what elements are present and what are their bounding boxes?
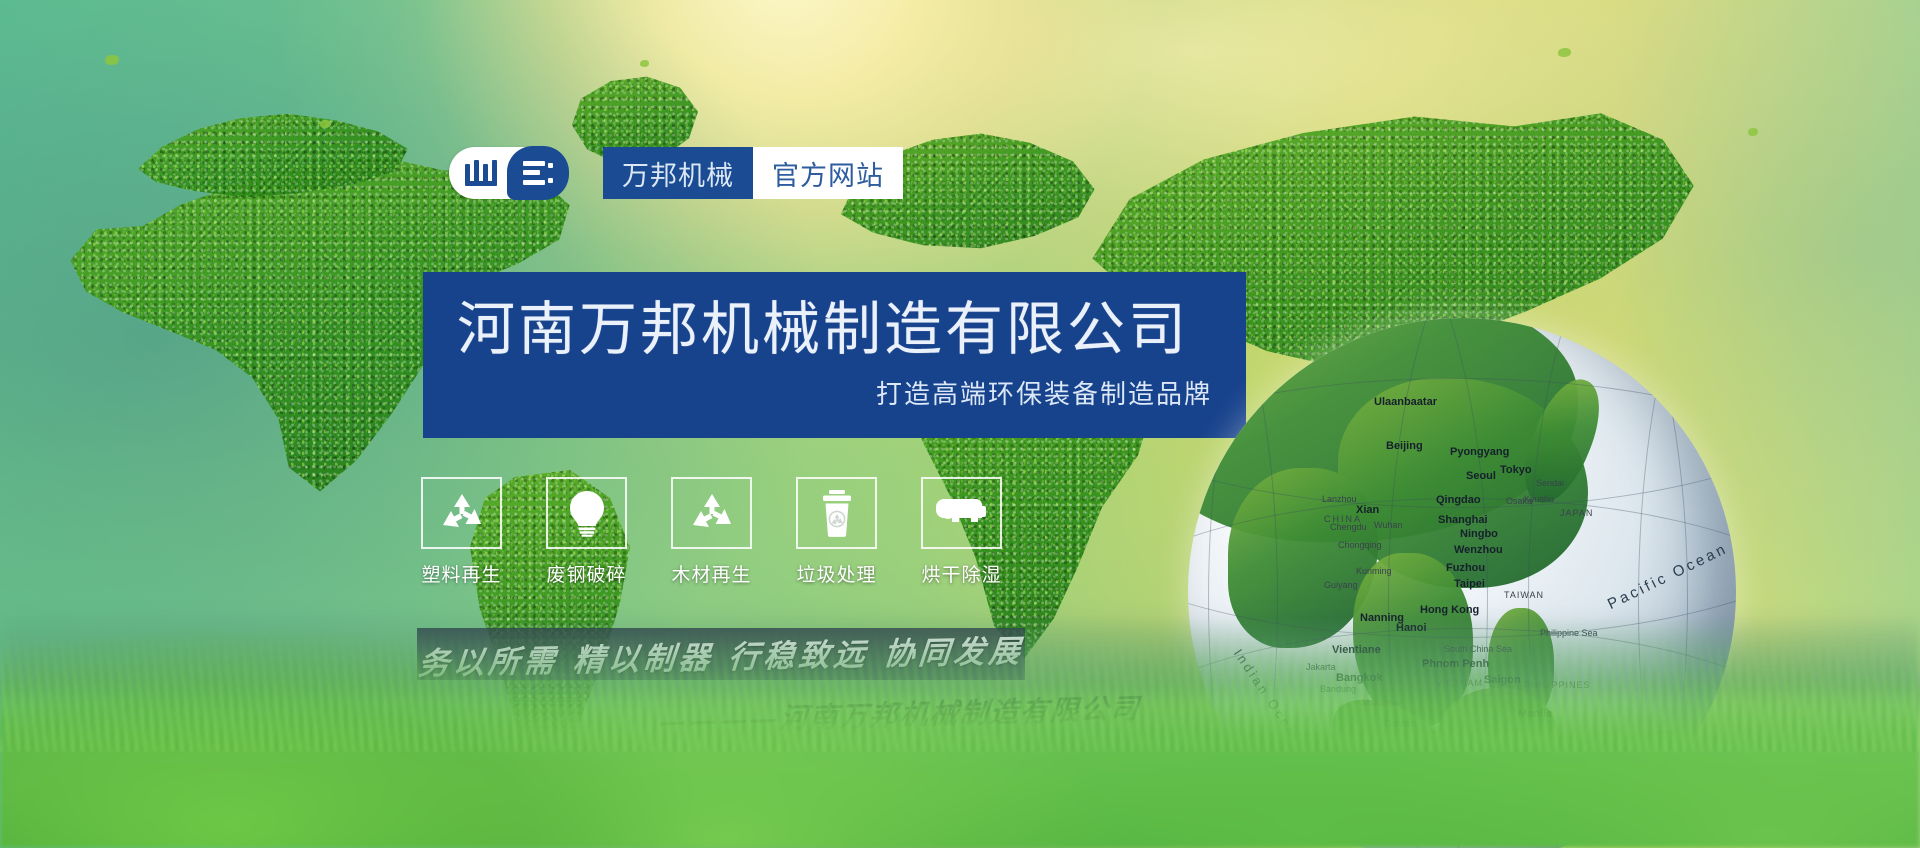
leaf-speck (320, 120, 331, 128)
leaf-speck (105, 55, 119, 65)
globe-city-label: Wuhan (1374, 520, 1402, 530)
feature-label: 废钢破碎 (546, 560, 626, 587)
globe-city-label: Seoul (1466, 470, 1496, 482)
leaf-speck (640, 60, 649, 67)
company-subtitle: 打造高端环保装备制造品牌 (457, 374, 1212, 411)
globe-ocean-label: Pacific Ocean (1605, 540, 1731, 613)
globe-city-label: Kunming (1356, 566, 1392, 576)
speech-bubble-icon (507, 146, 569, 200)
feature-item-drying-dehumidifying[interactable]: 烘干除湿 (921, 477, 1002, 587)
feature-label: 木材再生 (671, 560, 751, 587)
globe-city-label: Shanghai (1438, 514, 1488, 526)
feature-item-wood-recycling[interactable]: 木材再生 (671, 477, 752, 587)
hero-title-panel: 河南万邦机械制造有限公司 打造高端环保装备制造品牌 (423, 272, 1246, 438)
globe-city-label: Ulaanbaatar (1374, 396, 1437, 408)
feature-icon-row: 塑料再生 废钢破碎 (421, 477, 1002, 587)
globe-city-label: Chongqing (1338, 540, 1382, 550)
nav-item-company[interactable]: 万邦机械 (603, 147, 753, 199)
logo-and-nav: 万邦机械 官方网站 (449, 147, 903, 199)
trash-bin-icon (820, 489, 854, 537)
feature-icon-box (921, 477, 1002, 549)
nav-bar: 万邦机械 官方网站 (603, 147, 903, 199)
recycle-icon (439, 491, 485, 535)
feature-label: 烘干除湿 (921, 560, 1001, 587)
logo-b-icon (523, 161, 553, 185)
globe-city-label: Taipei (1454, 578, 1485, 590)
hero-banner: 万邦机械 官方网站 河南万邦机械制造有限公司 打造高端环保装备制造品牌 塑料再生 (0, 0, 1920, 848)
feature-label: 垃圾处理 (796, 560, 876, 587)
feature-item-scrap-steel-crushing[interactable]: 废钢破碎 (546, 477, 627, 587)
feature-icon-box (546, 477, 627, 549)
leaf-speck (1748, 128, 1758, 136)
globe-city-label: Wenzhou (1454, 544, 1503, 556)
foreground-grass-blades (0, 632, 1920, 752)
feature-icon-box (796, 477, 877, 549)
globe-city-label: Kyushu (1524, 494, 1554, 504)
globe-city-label: Beijing (1386, 440, 1423, 452)
globe-city-label: Pyongyang (1450, 446, 1509, 458)
globe-city-label: Tokyo (1500, 464, 1532, 476)
company-title: 河南万邦机械制造有限公司 (457, 299, 1212, 360)
lightbulb-icon (567, 489, 607, 537)
recycle-icon (689, 491, 735, 535)
logo-w-icon (465, 160, 497, 186)
globe-city-label: Lanzhou (1322, 494, 1357, 504)
feature-icon-box (421, 477, 502, 549)
feature-icon-box (671, 477, 752, 549)
nav-item-official-site[interactable]: 官方网站 (753, 147, 903, 199)
dryer-machine-icon (936, 493, 988, 533)
feature-item-plastic-recycling[interactable]: 塑料再生 (421, 477, 502, 587)
feature-item-waste-treatment[interactable]: 垃圾处理 (796, 477, 877, 587)
wb-logo-mark[interactable] (449, 147, 565, 199)
globe-city-label: Ningbo (1460, 528, 1498, 540)
globe-country-label: CHINA (1324, 514, 1362, 524)
globe-city-label: Fuzhou (1446, 562, 1485, 574)
globe-city-label: Qingdao (1436, 494, 1481, 506)
globe-country-label: JAPAN (1560, 508, 1593, 518)
feature-label: 塑料再生 (421, 560, 501, 587)
globe-country-label: TAIWAN (1504, 590, 1544, 600)
leaf-speck (1558, 48, 1571, 57)
globe-city-label: Guiyang (1324, 580, 1358, 590)
globe-city-label: Sendai (1536, 478, 1564, 488)
